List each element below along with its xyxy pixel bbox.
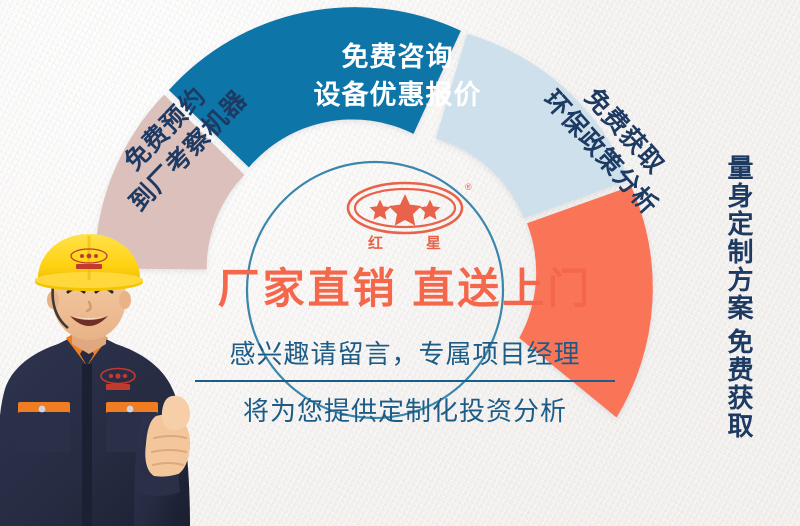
logo-char-right: 星 xyxy=(426,232,442,253)
divider-rule xyxy=(195,380,615,382)
worker-photo xyxy=(0,226,229,526)
hongxing-logo: ® 红 星 xyxy=(325,178,485,252)
logo-char-left: 红 xyxy=(368,232,384,253)
promo-banner: 免费预约 到厂考察机器 免费咨询 设备优惠报价 免费获取 环保政策分析 免费获取… xyxy=(0,0,800,526)
svg-text:®: ® xyxy=(465,182,472,192)
worker-helmet xyxy=(35,234,143,291)
logo-brand-text: 红 星 xyxy=(325,232,485,253)
headline: 厂家直销 直送上门 xyxy=(195,266,615,312)
subline-2: 将为您提供定制化投资分析 xyxy=(195,391,615,428)
center-content: ® 红 星 厂家直销 直送上门 感兴趣请留言，专属项目经理 将为您提供定制化投资… xyxy=(195,178,615,428)
subline-1: 感兴趣请留言，专属项目经理 xyxy=(195,334,615,380)
